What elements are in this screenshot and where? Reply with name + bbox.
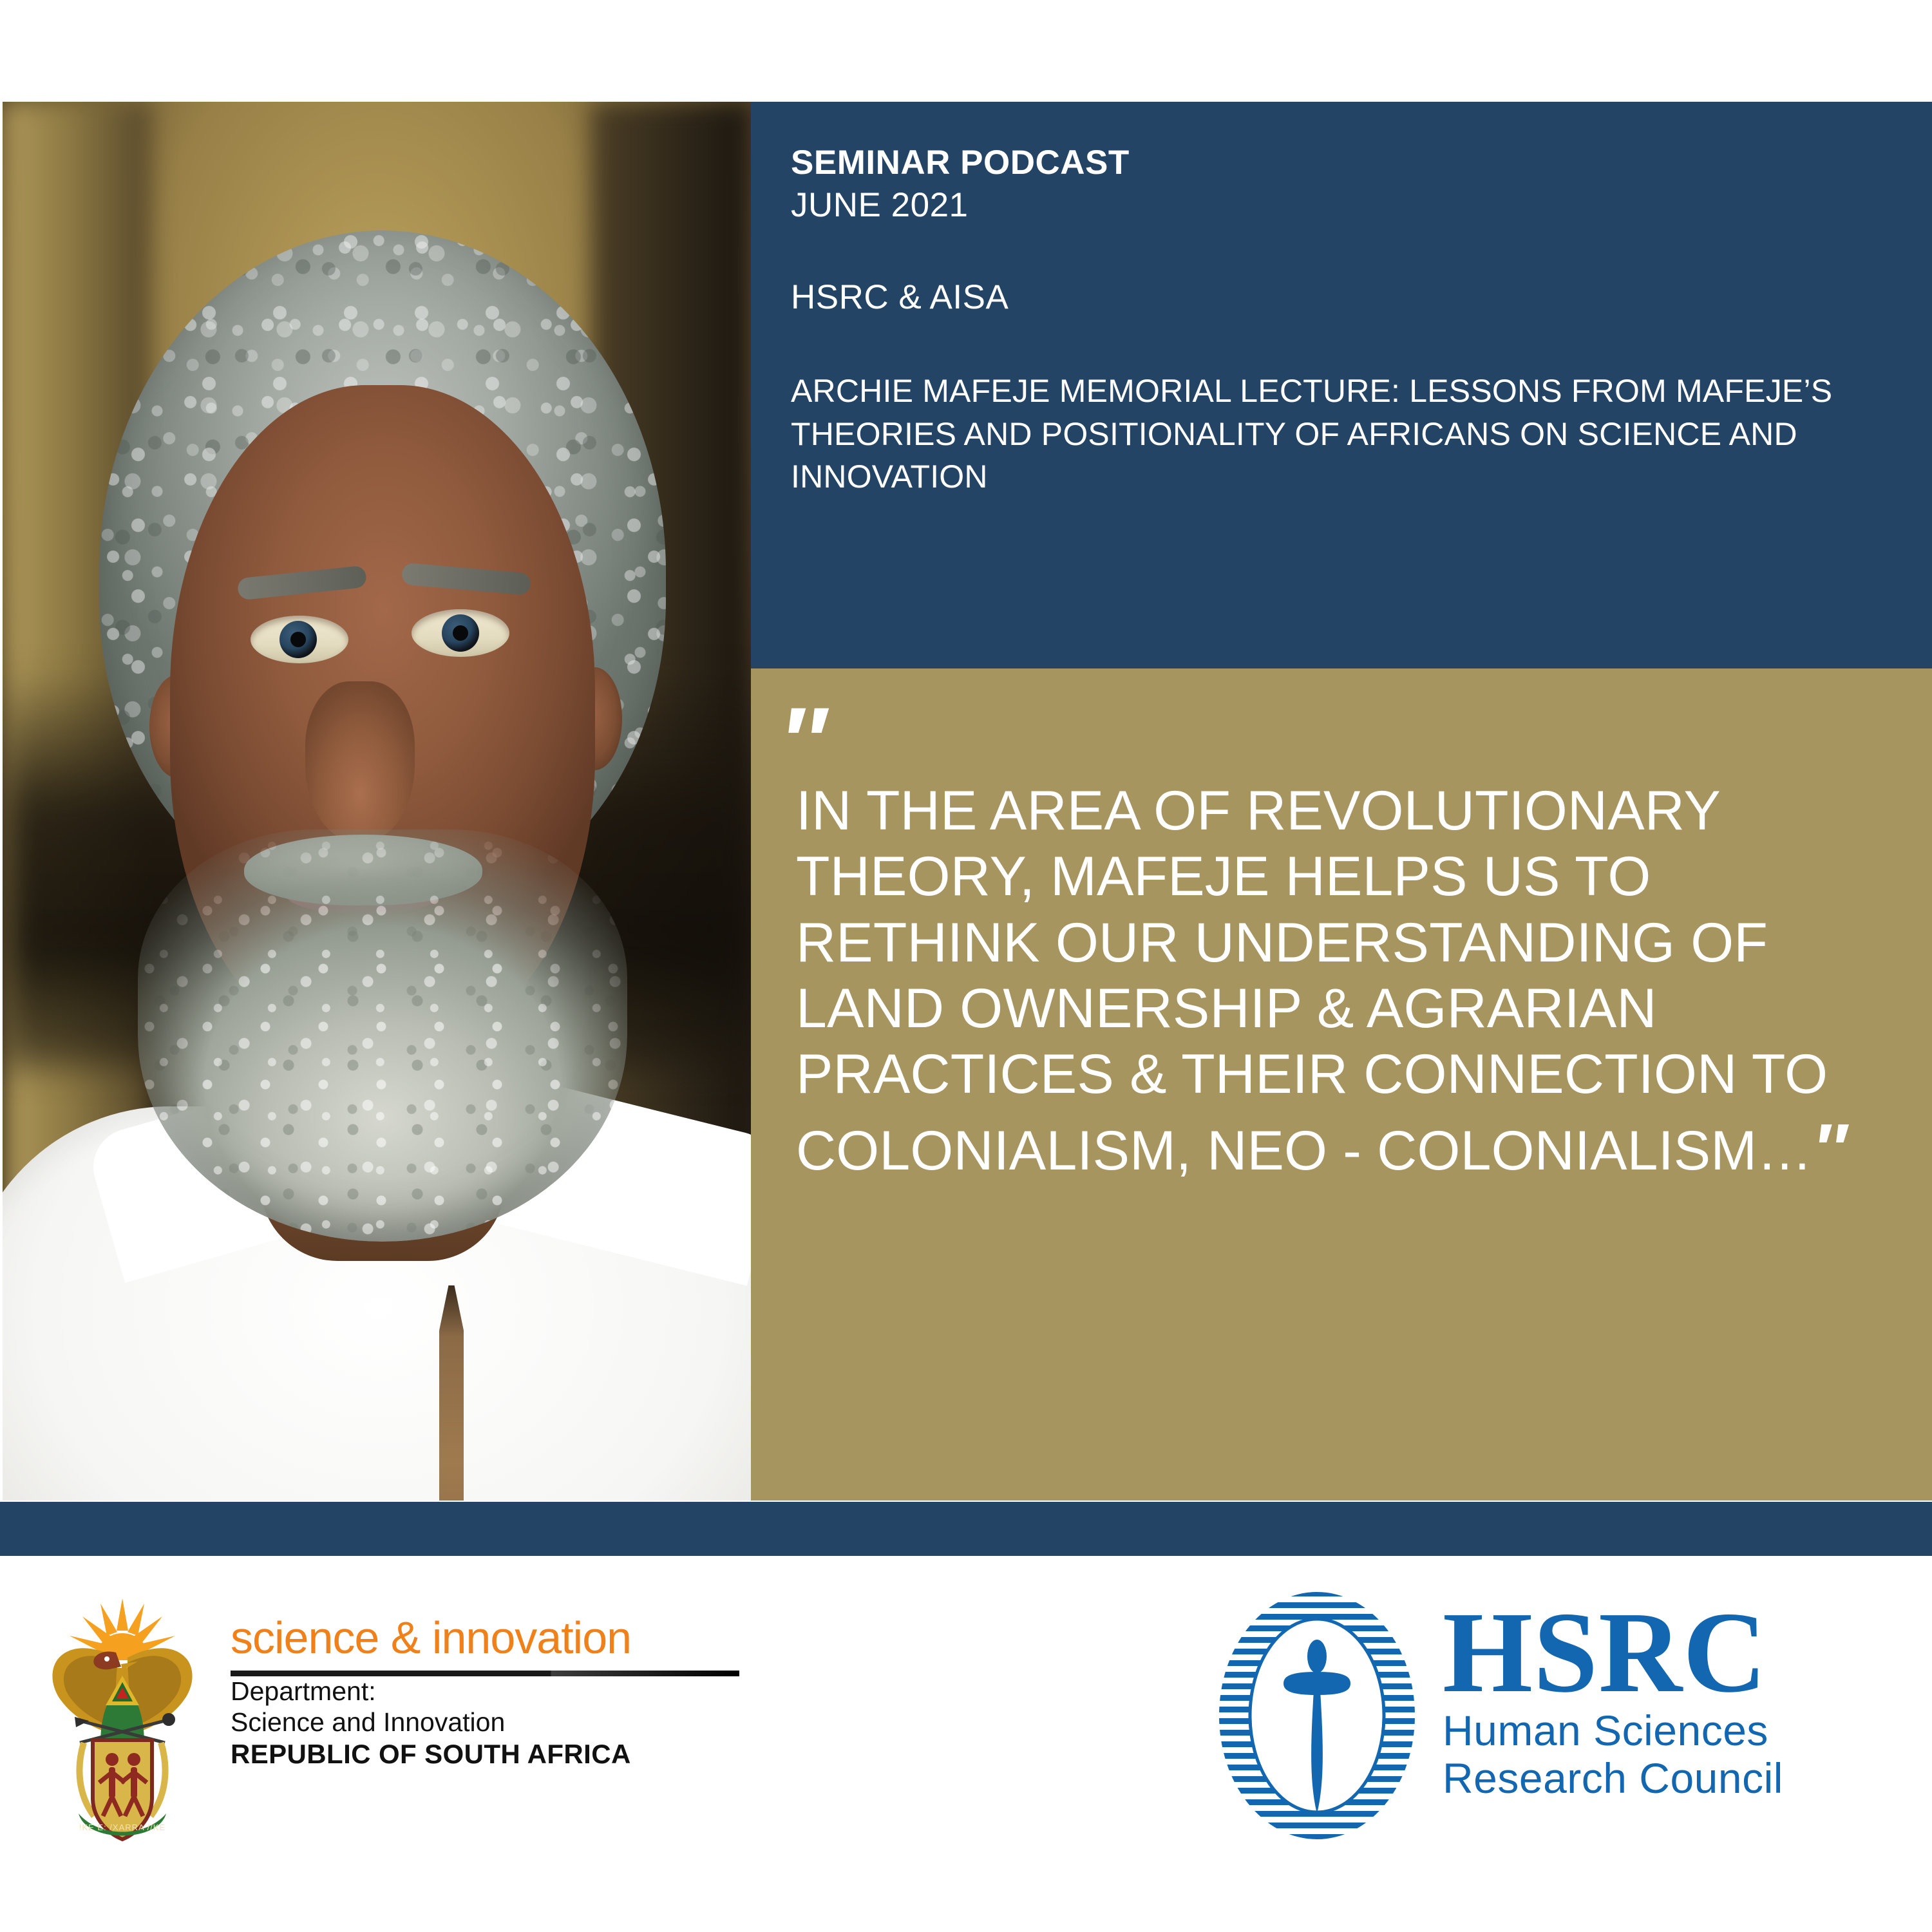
- portrait-nose: [305, 681, 415, 842]
- dsi-divider-rule: [231, 1671, 739, 1676]
- hsrc-logo-lockup: HSRC Human Sciences Research Council: [1211, 1578, 1893, 1861]
- dsi-text-block: science & innovation Department: Science…: [231, 1615, 746, 1770]
- event-info-content: SEMINAR PODCAST JUNE 2021 HSRC & AISA AR…: [791, 142, 1906, 498]
- portrait-beard: [138, 829, 627, 1242]
- hsrc-acronym: HSRC: [1443, 1597, 1783, 1707]
- event-organisers: HSRC & AISA: [791, 278, 1906, 317]
- portrait-shirt-placket: [439, 1285, 464, 1501]
- quote-open-mark: ″: [779, 712, 820, 770]
- dsi-department-name: Science and Innovation: [231, 1707, 746, 1738]
- event-info-panel: SEMINAR PODCAST JUNE 2021 HSRC & AISA AR…: [751, 102, 1932, 668]
- hsrc-name-line-1: Human Sciences: [1443, 1707, 1783, 1755]
- dsi-department-label: Department:: [231, 1676, 746, 1707]
- navy-divider-bar: [0, 1502, 1932, 1556]
- hsrc-name-line-2: Research Council: [1443, 1755, 1783, 1803]
- portrait-pupil-left: [290, 632, 306, 647]
- quote-panel: ″ IN THE AREA OF REVOLUTIONARY THEORY, M…: [751, 668, 1932, 1501]
- hsrc-emblem-icon: [1211, 1587, 1423, 1844]
- quote-close-mark: ″: [1812, 1110, 1842, 1189]
- speaker-portrait-photo: [3, 102, 752, 1501]
- south-african-coat-of-arms-icon: !KE E: /XARRA //KE: [45, 1591, 200, 1848]
- portrait-pupil-right: [453, 625, 468, 641]
- svg-text:!KE E: /XARRA //KE: !KE E: /XARRA //KE: [79, 1823, 166, 1832]
- dsi-logo-lockup: !KE E: /XARRA //KE science & innovation …: [45, 1584, 766, 1855]
- poster-card: SEMINAR PODCAST JUNE 2021 HSRC & AISA AR…: [0, 0, 1932, 1558]
- footer-logos: !KE E: /XARRA //KE science & innovation …: [0, 1558, 1932, 1932]
- event-date: JUNE 2021: [791, 184, 1906, 227]
- lecture-title: ARCHIE MAFEJE MEMORIAL LECTURE: LESSONS …: [791, 370, 1886, 498]
- dsi-country: REPUBLIC OF SOUTH AFRICA: [231, 1738, 746, 1770]
- hsrc-text-block: HSRC Human Sciences Research Council: [1443, 1597, 1783, 1803]
- quote-text: IN THE AREA OF REVOLUTIONARY THEORY, MAF…: [796, 780, 1828, 1182]
- quote-body: IN THE AREA OF REVOLUTIONARY THEORY, MAF…: [796, 778, 1906, 1192]
- event-kicker: SEMINAR PODCAST: [791, 142, 1906, 184]
- dsi-wordmark: science & innovation: [231, 1615, 746, 1660]
- portrait-head: [99, 231, 666, 1087]
